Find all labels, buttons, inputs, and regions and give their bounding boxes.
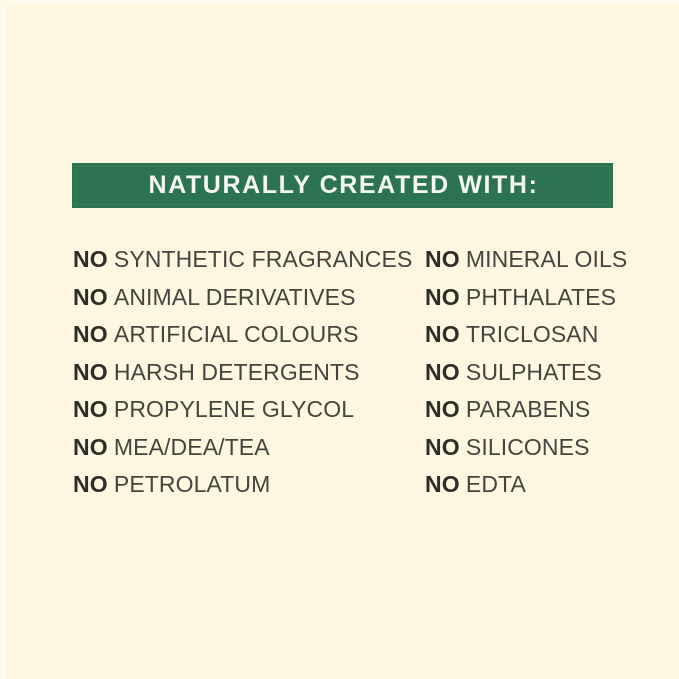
banner-title: NATURALLY CREATED WITH:	[146, 173, 538, 198]
free-from-list-right-column: NOMINERAL OILS NOPHTHALATES NOTRICLOSAN …	[425, 241, 627, 504]
page-edge-left	[0, 0, 6, 679]
list-item: NOPROPYLENE GLYCOL	[73, 391, 412, 429]
list-item-prefix: NO	[425, 321, 460, 347]
list-item-prefix: NO	[73, 284, 108, 310]
list-item-label: SILICONES	[460, 434, 590, 460]
list-item: NOHARSH DETERGENTS	[73, 354, 412, 392]
list-item: NOEDTA	[425, 466, 627, 504]
list-item-prefix: NO	[425, 396, 460, 422]
list-item-prefix: NO	[73, 246, 108, 272]
free-from-list-left-column: NOSYNTHETIC FRAGRANCES NOANIMAL DERIVATI…	[73, 241, 412, 504]
list-item-prefix: NO	[73, 471, 108, 497]
list-item-prefix: NO	[425, 246, 460, 272]
list-item: NOMEA/DEA/TEA	[73, 429, 412, 467]
list-item-label: PETROLATUM	[108, 471, 270, 497]
list-item-prefix: NO	[73, 434, 108, 460]
list-item-label: PROPYLENE GLYCOL	[108, 396, 354, 422]
list-item: NOSULPHATES	[425, 354, 627, 392]
list-item-prefix: NO	[425, 434, 460, 460]
list-item-prefix: NO	[425, 359, 460, 385]
list-item: NOSYNTHETIC FRAGRANCES	[73, 241, 412, 279]
list-item: NOANIMAL DERIVATIVES	[73, 279, 412, 317]
list-item-label: PHTHALATES	[460, 284, 616, 310]
list-item-prefix: NO	[73, 359, 108, 385]
list-item: NOPHTHALATES	[425, 279, 627, 317]
list-item: NOTRICLOSAN	[425, 316, 627, 354]
page-edge-top	[0, 0, 679, 4]
list-item-label: TRICLOSAN	[460, 321, 599, 347]
product-claims-infographic: NATURALLY CREATED WITH: NOSYNTHETIC FRAG…	[0, 0, 679, 679]
list-item-prefix: NO	[425, 471, 460, 497]
list-item-label: MINERAL OILS	[460, 246, 627, 272]
list-item-label: SULPHATES	[460, 359, 602, 385]
list-item-label: ANIMAL DERIVATIVES	[108, 284, 356, 310]
list-item-prefix: NO	[73, 396, 108, 422]
list-item: NOARTIFICIAL COLOURS	[73, 316, 412, 354]
list-item-label: PARABENS	[460, 396, 590, 422]
list-item: NOPETROLATUM	[73, 466, 412, 504]
list-item-prefix: NO	[425, 284, 460, 310]
list-item-label: MEA/DEA/TEA	[108, 434, 270, 460]
list-item: NOMINERAL OILS	[425, 241, 627, 279]
list-item-label: HARSH DETERGENTS	[108, 359, 360, 385]
list-item: NOSILICONES	[425, 429, 627, 467]
naturally-created-with-banner: NATURALLY CREATED WITH:	[72, 163, 613, 208]
list-item-label: SYNTHETIC FRAGRANCES	[108, 246, 412, 272]
list-item-label: EDTA	[460, 471, 526, 497]
list-item-label: ARTIFICIAL COLOURS	[108, 321, 359, 347]
list-item-prefix: NO	[73, 321, 108, 347]
list-item: NOPARABENS	[425, 391, 627, 429]
